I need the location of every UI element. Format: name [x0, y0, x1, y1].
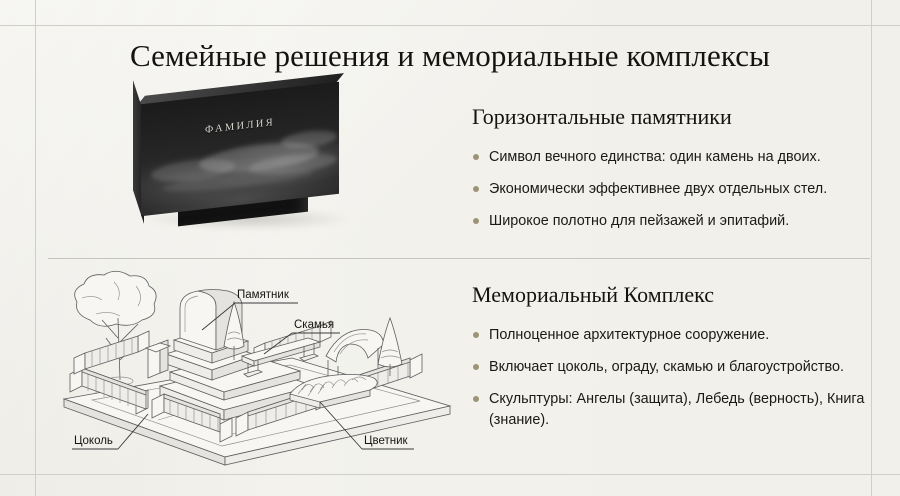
list-item: Экономически эффективнее двух отдельных …	[472, 179, 872, 200]
list-item: Полноценное архитектурное сооружение.	[472, 325, 872, 346]
slide-canvas: Семейные решения и мемориальные комплекс…	[0, 0, 900, 496]
section-2-heading: Мемориальный Комплекс	[472, 282, 872, 308]
list-item: Скульптуры: Ангелы (защита), Лебедь (вер…	[472, 389, 872, 431]
section-1-bullet-list: Символ вечного единства: один камень на …	[472, 147, 872, 232]
list-item: Включает цоколь, ограду, скамью и благоу…	[472, 357, 872, 378]
bullet-dot-icon	[473, 396, 479, 402]
memorial-complex-diagram: Памятник Скамья Цоколь Цветник	[52, 268, 462, 468]
list-item: Широкое полотно для пейзажей и эпитафий.	[472, 211, 872, 232]
section-divider	[48, 258, 870, 259]
list-item-text: Включает цоколь, ограду, скамью и благоу…	[489, 359, 844, 375]
section-2-bullet-list: Полноценное архитектурное сооружение. Вк…	[472, 325, 872, 431]
bullet-dot-icon	[473, 332, 479, 338]
list-item-text: Широкое полотно для пейзажей и эпитафий.	[489, 213, 789, 229]
bullet-dot-icon	[473, 186, 479, 192]
section-horizontal-monuments: Горизонтальные памятники Символ вечного …	[472, 104, 872, 232]
list-item: Символ вечного единства: один камень на …	[472, 147, 872, 168]
list-item-text: Скульптуры: Ангелы (защита), Лебедь (вер…	[489, 391, 864, 428]
section-1-heading: Горизонтальные памятники	[472, 104, 872, 130]
section-memorial-complex: Мемориальный Комплекс Полноценное архите…	[472, 282, 872, 431]
horizontal-monument-photo: ФАМИЛИЯ	[130, 88, 366, 243]
monument-slab-face: ФАМИЛИЯ	[141, 82, 339, 217]
list-item-text: Символ вечного единства: один камень на …	[489, 149, 821, 165]
list-item-text: Экономически эффективнее двух отдельных …	[489, 181, 827, 197]
slide-title: Семейные решения и мемориальные комплекс…	[0, 38, 900, 74]
diagram-label-text: Цветник	[364, 435, 409, 447]
diagram-label-text: Скамья	[294, 319, 334, 331]
guide-line-top	[0, 25, 900, 26]
diagram-label-text: Цоколь	[74, 435, 113, 447]
bullet-dot-icon	[473, 154, 479, 160]
guide-line-left	[35, 0, 36, 496]
diagram-balustrade-back-left	[74, 331, 149, 374]
guide-line-bottom	[0, 474, 900, 475]
diagram-corner-pillar	[146, 340, 170, 378]
list-item-text: Полноценное архитектурное сооружение.	[489, 327, 769, 343]
bullet-dot-icon	[473, 364, 479, 370]
bullet-dot-icon	[473, 218, 479, 224]
diagram-label-text: Памятник	[237, 289, 290, 301]
